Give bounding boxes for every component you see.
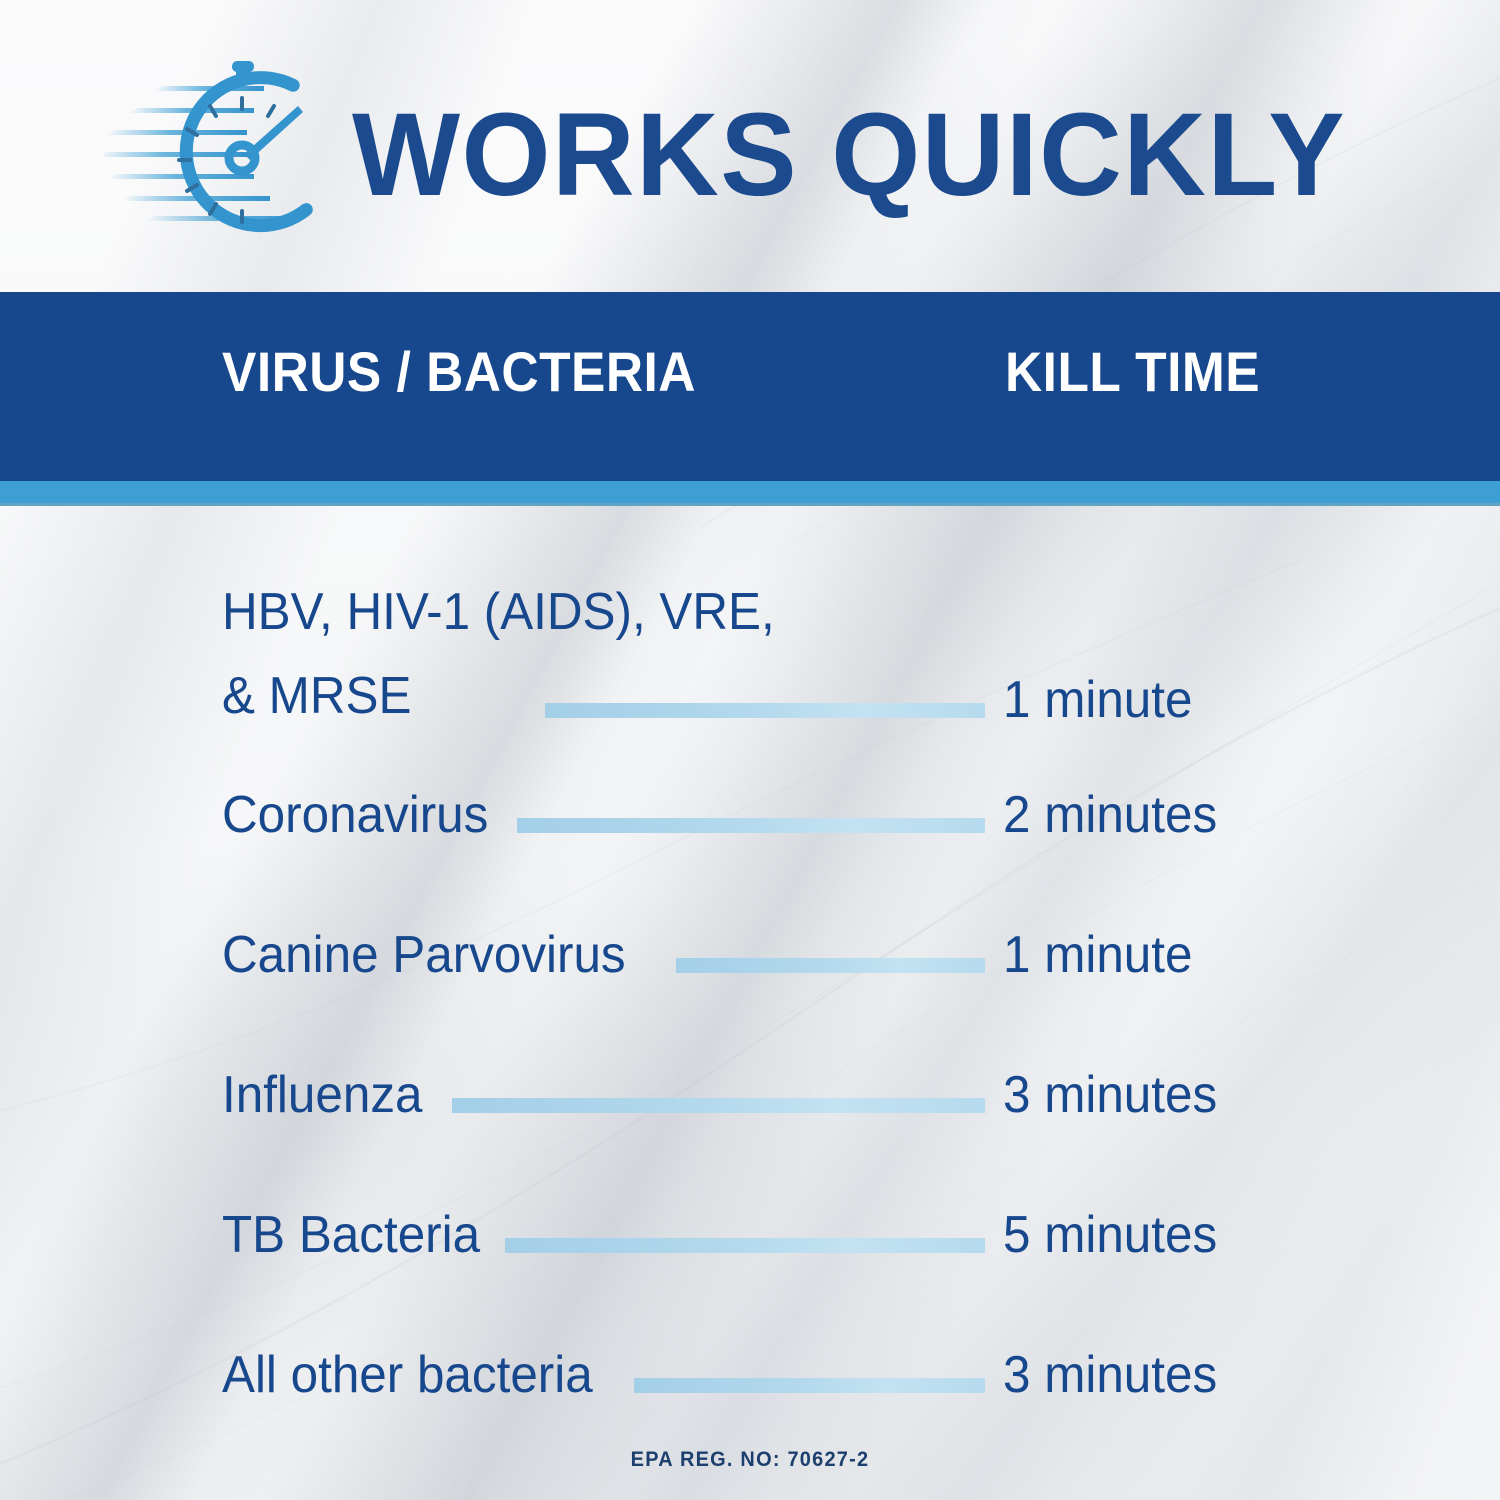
table-row: Coronavirus 2 minutes [0,785,1500,895]
row-connector-bar [545,703,985,718]
table-header-band: VIRUS / BACTERIA KILL TIME [0,292,1500,481]
row-label: Canine Parvovirus [222,925,626,985]
infographic-page: WORKS QUICKLY VIRUS / BACTERIA KILL TIME… [0,0,1500,1500]
epa-registration-text: EPA REG. NO: 70627-2 [38,1448,1463,1472]
table-row: Canine Parvovirus 1 minute [0,925,1500,1035]
table-row: TB Bacteria 5 minutes [0,1205,1500,1315]
row-kill-time: 3 minutes [1003,1065,1217,1125]
row-label: All other bacteria [222,1345,593,1405]
column-header-virus: VIRUS / BACTERIA [222,344,696,400]
row-connector-bar [505,1238,985,1253]
row-label: Influenza [222,1065,422,1125]
kill-time-table: HBV, HIV-1 (AIDS), VRE,& MRSE 1 minute C… [0,506,1500,1436]
header: WORKS QUICKLY [0,0,1500,292]
row-kill-time: 2 minutes [1003,785,1217,845]
table-row: All other bacteria 3 minutes [0,1345,1500,1455]
column-header-kill-time: KILL TIME [1005,344,1260,400]
row-connector-bar [676,958,985,973]
row-kill-time: 5 minutes [1003,1205,1217,1265]
table-row: HBV, HIV-1 (AIDS), VRE,& MRSE 1 minute [0,552,1500,662]
row-connector-bar [452,1098,985,1113]
accent-strip [0,481,1500,506]
row-label: Coronavirus [222,785,488,845]
stopwatch-speed-icon [104,50,354,240]
row-connector-bar [634,1378,985,1393]
row-kill-time: 1 minute [1003,670,1192,730]
table-row: Influenza 3 minutes [0,1065,1500,1175]
page-title: WORKS QUICKLY [352,96,1346,214]
row-kill-time: 3 minutes [1003,1345,1217,1405]
row-kill-time: 1 minute [1003,925,1192,985]
row-connector-bar [517,818,985,833]
row-label: TB Bacteria [222,1205,480,1265]
